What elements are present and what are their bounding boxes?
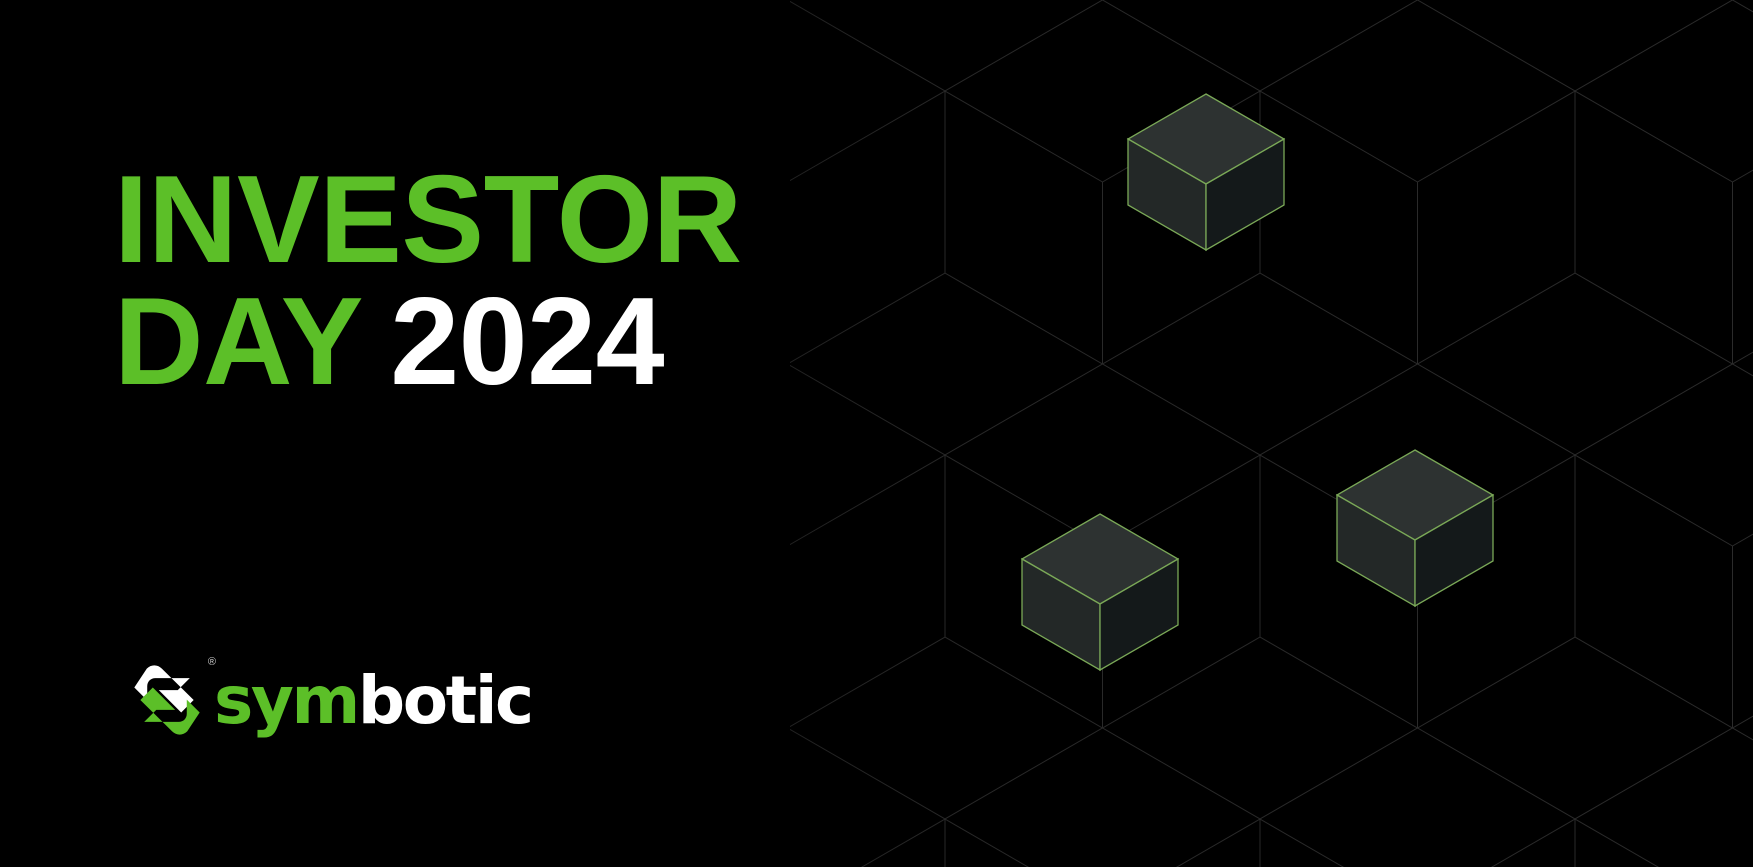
symbotic-wordmark: symbotic xyxy=(214,662,532,739)
investor-day-banner: INVESTOR DAY2024 ® symbotic xyxy=(0,0,1753,867)
cube-bottom-left xyxy=(1022,514,1178,670)
page-title: INVESTOR DAY2024 xyxy=(114,160,742,403)
title-line-day-2024: DAY2024 xyxy=(114,282,742,404)
wordmark-sym: sym xyxy=(214,662,358,739)
registered-trademark-icon: ® xyxy=(208,657,216,668)
title-word-year: 2024 xyxy=(390,273,664,411)
symbotic-s-mark-icon: ® xyxy=(124,657,210,743)
lattice-grid xyxy=(790,0,1753,867)
cube-bottom-right xyxy=(1337,450,1493,606)
cube-top-right xyxy=(1128,94,1284,250)
title-line-investor: INVESTOR xyxy=(114,160,742,282)
title-word-day: DAY xyxy=(114,273,363,411)
symbotic-logo: ® symbotic xyxy=(124,652,532,748)
wordmark-botic: botic xyxy=(358,662,532,739)
